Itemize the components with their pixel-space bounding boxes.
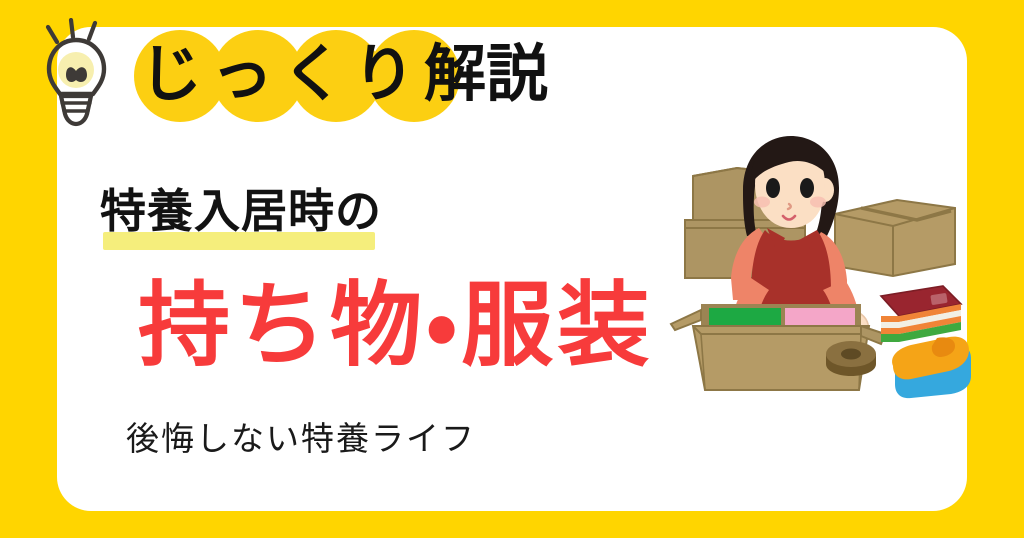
tape-roll	[826, 341, 876, 376]
thumbnail-canvas: じっくり解説 特養入居時の 持ち物・服装 後悔しない特養ライフ	[0, 0, 1024, 538]
badge-text-kanji: 解説	[424, 37, 548, 110]
lightbulb-icon	[38, 18, 120, 130]
badge-row: じっくり解説	[38, 14, 548, 134]
cardboard-box-right-closed	[835, 200, 955, 276]
badge-text-wrap: じっくり解説	[134, 20, 548, 128]
lunch-box	[892, 337, 971, 399]
illustration-woman-packing-boxes	[655, 128, 971, 400]
headline-text: 持ち物・服装	[138, 280, 653, 372]
book-stack	[881, 286, 961, 342]
badge-text: じっくり解説	[134, 43, 548, 105]
badge-text-kana: じっくり	[140, 37, 424, 110]
subtitle-text: 特養入居時の	[100, 186, 382, 238]
subtitle-wrap: 特養入居時の	[100, 186, 382, 238]
tagline-text: 後悔しない特養ライフ	[126, 422, 476, 455]
